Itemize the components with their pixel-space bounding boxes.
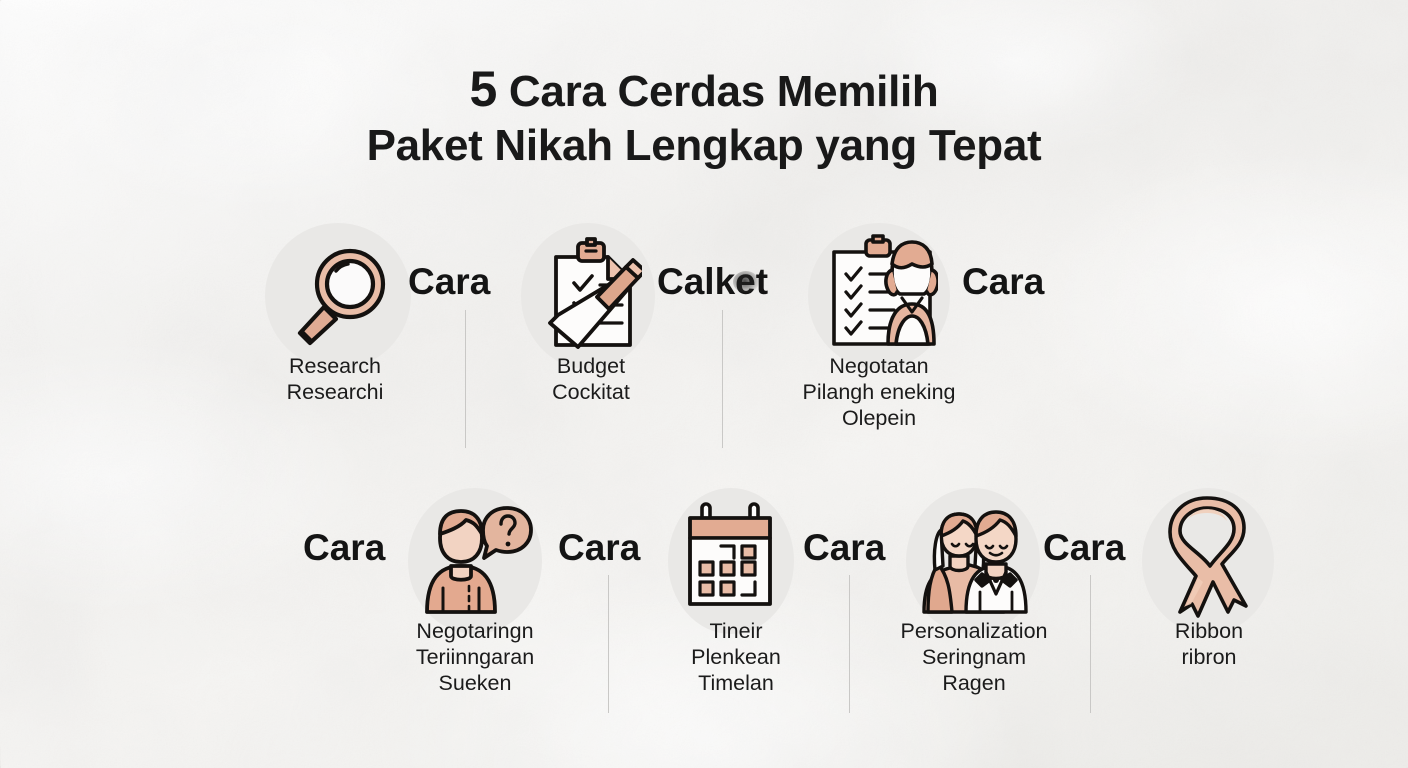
bride-groom-icon [920, 500, 1030, 621]
item-caption: Negotaringn Teriinngaran Sueken [375, 618, 575, 696]
item-caption: Research Researchi [235, 353, 435, 405]
calendar-icon [682, 500, 782, 617]
clipboard-pencil-check-icon [542, 235, 642, 358]
item-caption: Tineir Plenkean Timelan [636, 618, 836, 696]
page-title: 5 Cara Cerdas Memilih Paket Nikah Lengka… [0, 62, 1408, 173]
headline-line2: Paket Nikah Lengkap yang Tepat [367, 121, 1042, 170]
divider-line [722, 310, 723, 448]
badge-cara: Cara [408, 263, 490, 300]
headline-line1: Cara Cerdas Memilih [497, 67, 939, 116]
badge-cara: Cara [1043, 529, 1125, 566]
divider-line [608, 575, 609, 713]
badge-cara: Cara [303, 529, 385, 566]
item-caption: Ribbon ribron [1136, 618, 1282, 670]
headline-number: 5 [469, 61, 497, 117]
item-caption: Negotatan Pilangh eneking Olepein [758, 353, 1000, 431]
divider-line [1090, 575, 1091, 713]
badge-cara: Cara [803, 529, 885, 566]
item-caption: Budget Cockitat [491, 353, 691, 405]
badge-calket: Calket [657, 263, 768, 300]
badge-cara: Cara [558, 529, 640, 566]
badge-cara: Cara [962, 263, 1044, 300]
ribbon-icon [1158, 494, 1256, 625]
item-caption: Personalization Seringnam Ragen [856, 618, 1092, 696]
divider-line [849, 575, 850, 713]
checklist-woman-icon [826, 232, 938, 359]
infographic-canvas: 5 Cara Cerdas Memilih Paket Nikah Lengka… [0, 0, 1408, 768]
person-question-icon [421, 500, 533, 621]
magnifier-icon [288, 243, 390, 354]
divider-line [465, 310, 466, 448]
